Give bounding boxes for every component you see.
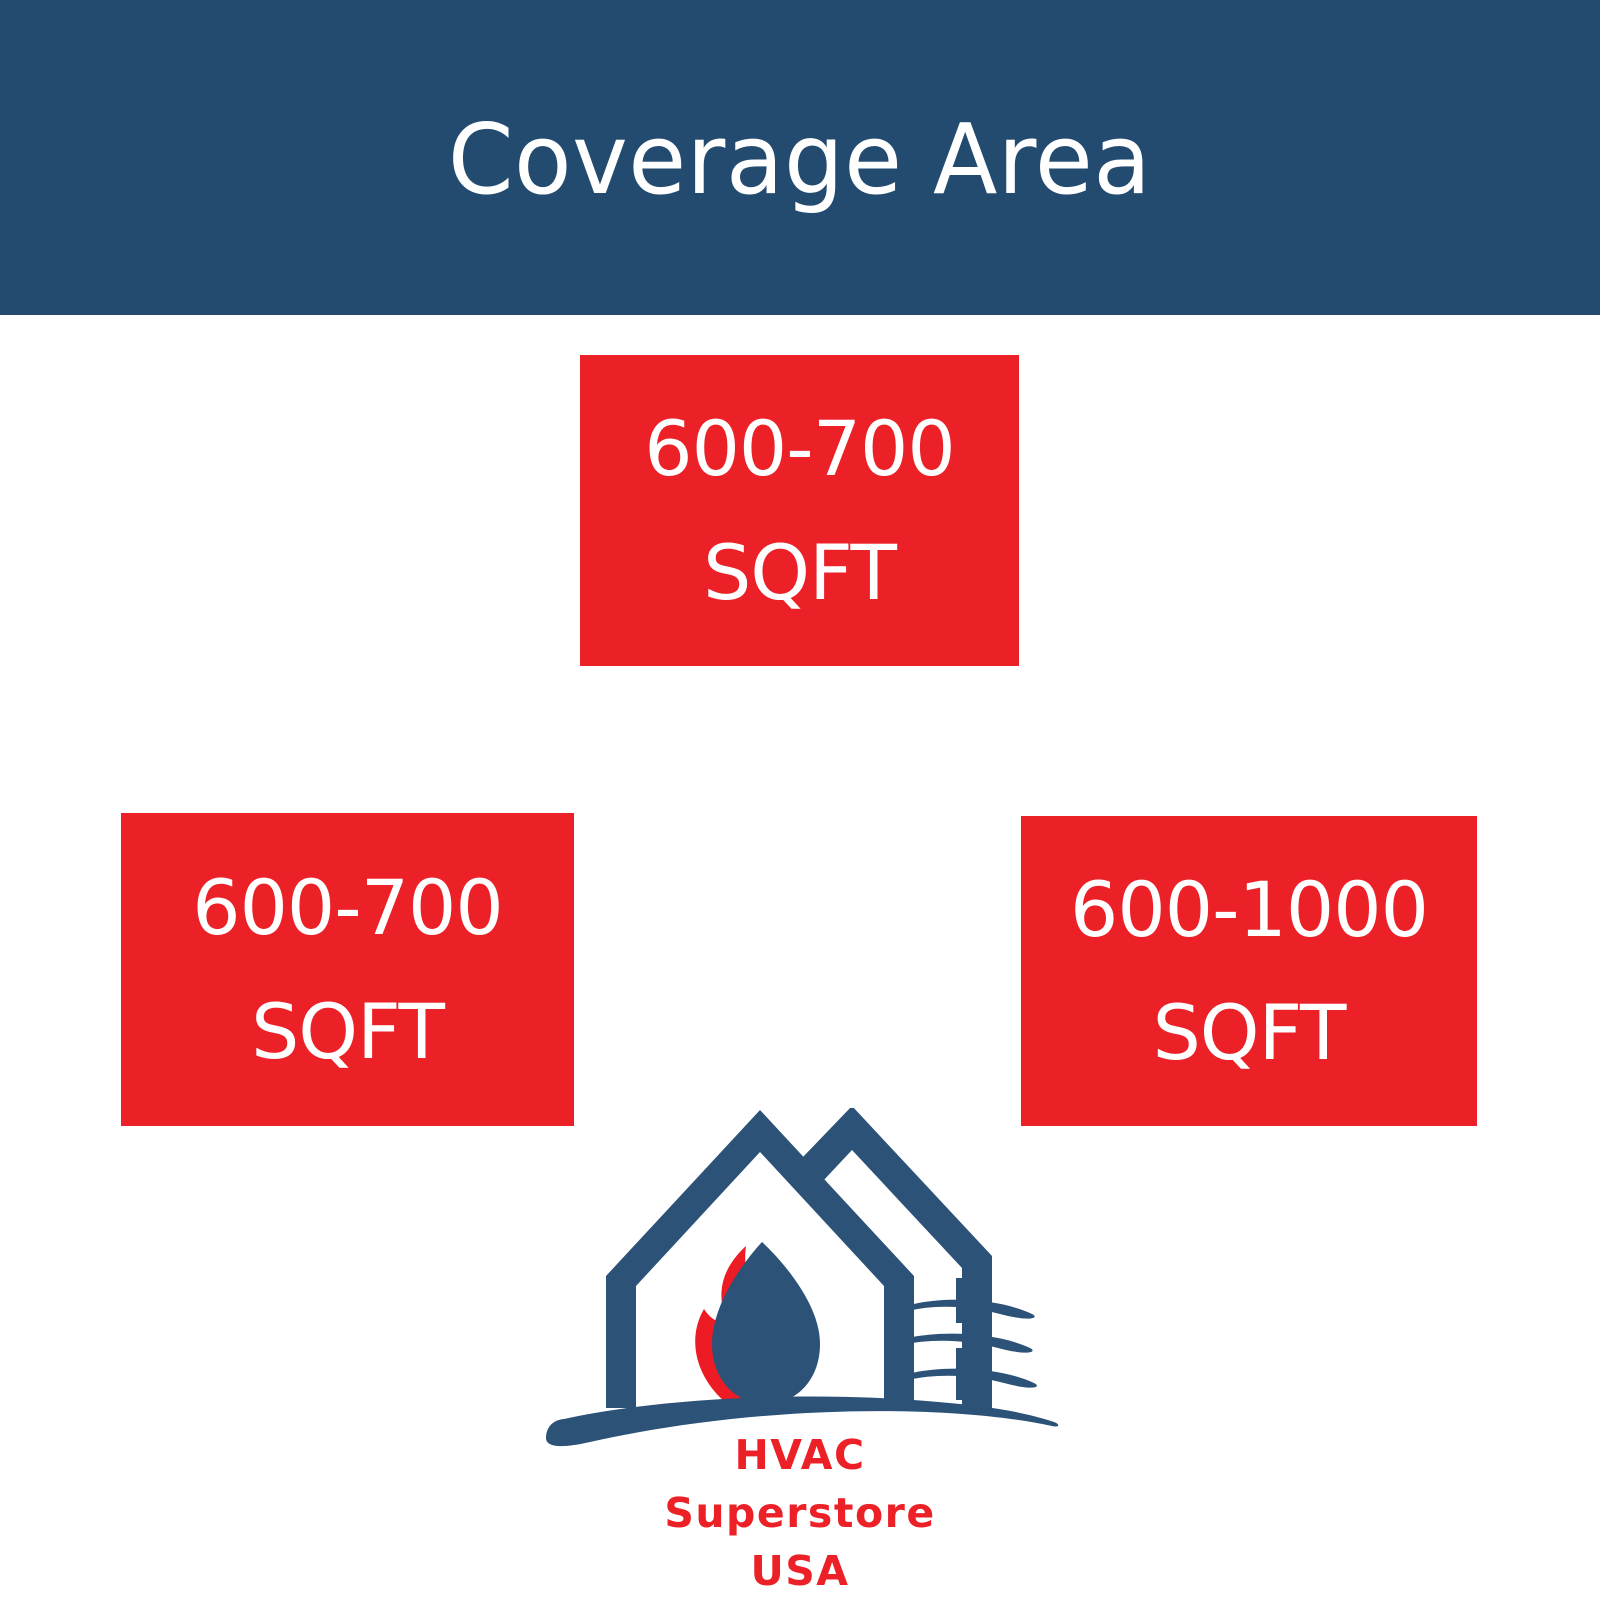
- coverage-box-right: 600-1000 SQFT: [1021, 816, 1477, 1126]
- page-title: Coverage Area: [448, 111, 1152, 208]
- logo-wordmark-line-2: Superstore: [530, 1484, 1070, 1542]
- logo-wordmark-line-1: HVAC: [530, 1426, 1070, 1484]
- coverage-box-left: 600-700 SQFT: [121, 813, 574, 1126]
- brand-logo: HVAC Superstore USA: [530, 1108, 1070, 1600]
- coverage-range-top: 600-700: [644, 387, 955, 510]
- header-band: Coverage Area: [0, 0, 1600, 315]
- logo-wordmark-line-3: USA: [530, 1542, 1070, 1600]
- logo-wordmark: HVAC Superstore USA: [530, 1426, 1070, 1601]
- water-droplet-icon: [712, 1242, 820, 1404]
- coverage-unit-left: SQFT: [251, 970, 444, 1093]
- coverage-range-right: 600-1000: [1070, 848, 1428, 971]
- coverage-unit-right: SQFT: [1153, 971, 1346, 1094]
- logo-mark: [530, 1108, 1070, 1448]
- coverage-range-left: 600-700: [192, 846, 503, 969]
- coverage-unit-top: SQFT: [703, 511, 896, 634]
- poster-canvas: Coverage Area 600-700 SQFT 600-700 SQFT …: [0, 0, 1600, 1600]
- coverage-box-top: 600-700 SQFT: [580, 355, 1019, 666]
